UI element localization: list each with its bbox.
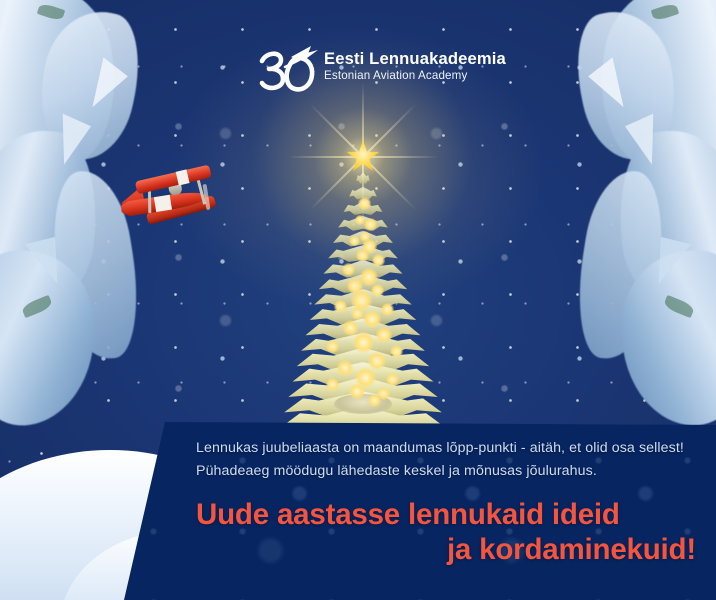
logo-title: Eesti Lennuakadeemia	[324, 49, 506, 68]
tree-lights	[268, 120, 458, 410]
headline: Uude aastasse lennukaid ideid ja kordami…	[196, 497, 696, 567]
tree-light	[390, 345, 403, 358]
tree-light	[381, 303, 394, 316]
30-anniversary-plane-logo-icon	[258, 44, 320, 96]
tree-light	[326, 378, 339, 391]
tree-light	[342, 263, 355, 276]
banner-content: Lennukas juubeliaasta on maandumas lõpp-…	[196, 437, 696, 567]
tree-light	[364, 218, 377, 231]
tree-light	[368, 394, 381, 407]
logo-subtitle: Estonian Aviation Academy	[324, 69, 506, 83]
tree-light	[363, 310, 381, 328]
tree-light	[349, 384, 365, 400]
tree-light	[337, 360, 353, 376]
logo-wordmark: Eesti Lennuakadeemia Estonian Aviation A…	[324, 49, 506, 83]
tree-light	[376, 327, 392, 343]
tree-light	[353, 332, 374, 353]
tree-light	[360, 231, 370, 241]
greeting-text: Lennukas juubeliaasta on maandumas lõpp-…	[196, 437, 696, 483]
tree-light	[386, 373, 399, 386]
tree-light	[349, 236, 359, 246]
tree-light	[372, 254, 385, 267]
tree-light	[371, 284, 384, 297]
headline-line-2: ja kordaminekuid!	[196, 532, 696, 567]
holiday-greeting-poster: Eesti Lennuakadeemia Estonian Aviation A…	[0, 0, 716, 600]
eaa-logo[interactable]: Eesti Lennuakadeemia Estonian Aviation A…	[258, 44, 473, 96]
tree-light	[358, 197, 371, 210]
tree-light	[368, 352, 386, 370]
tree-light	[356, 249, 369, 262]
plane-fuselage-stripe	[154, 195, 172, 212]
headline-line-1: Uude aastasse lennukaid ideid	[196, 497, 696, 532]
tree-light	[326, 340, 339, 353]
snow-covered-christmas-tree	[268, 120, 458, 410]
tree-light	[334, 300, 347, 313]
